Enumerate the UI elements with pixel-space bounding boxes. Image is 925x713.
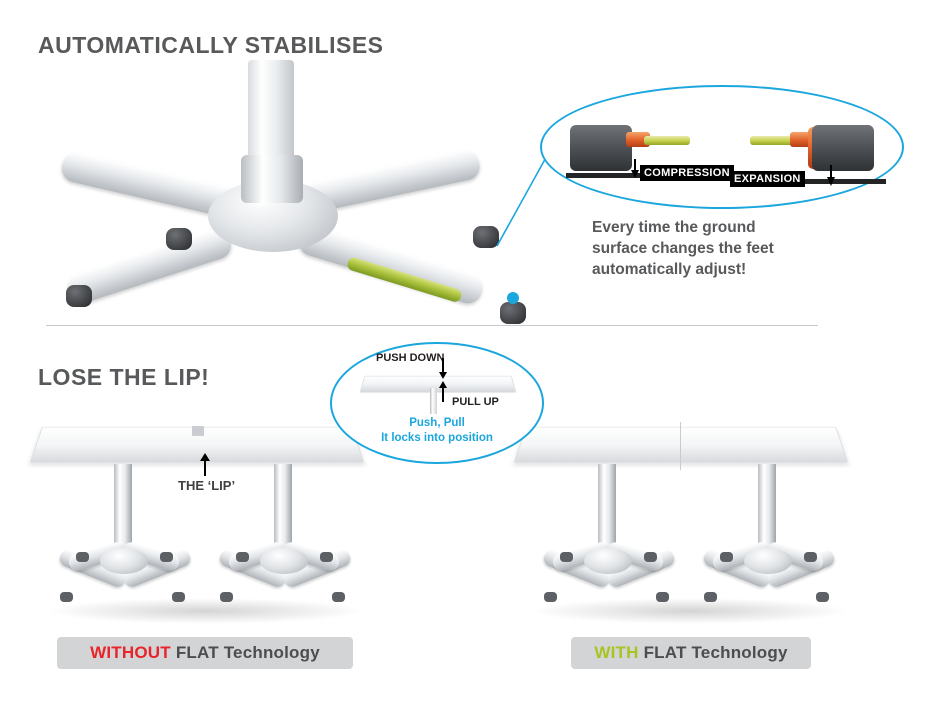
label-the-lip: THE ‘LIP’ xyxy=(178,478,235,493)
pedestal-hub xyxy=(100,548,148,574)
pedestal-glide xyxy=(704,592,717,602)
pedestal-glide xyxy=(76,552,89,562)
pedestal-glide xyxy=(560,552,573,562)
pedestal-glide xyxy=(332,592,345,602)
table-illustration-without xyxy=(36,412,376,612)
page-title-automatically-stabilises: AUTOMATICALLY STABILISES xyxy=(38,32,384,59)
label-pull-up: PULL UP xyxy=(452,396,499,408)
infographic-root: AUTOMATICALLY STABILISES xyxy=(0,0,925,713)
table-top-seam xyxy=(680,422,681,470)
banner-without-flat-technology: WITHOUT FLAT Technology xyxy=(57,637,353,669)
push-pull-callout-ellipse: PUSH DOWN PULL UP Push, Pull It locks in… xyxy=(330,342,544,464)
pedestal-glide xyxy=(236,552,249,562)
label-push-down: PUSH DOWN xyxy=(376,352,444,364)
arrow-down-icon xyxy=(442,358,444,372)
banner-rest-without: FLAT Technology xyxy=(176,643,320,663)
banner-with-flat-technology: WITH FLAT Technology xyxy=(571,637,811,669)
mechanism-expansion xyxy=(750,109,870,179)
base-foot xyxy=(500,302,526,324)
base-foot xyxy=(66,285,92,307)
table-top xyxy=(514,427,849,463)
mechanism-housing xyxy=(812,125,874,171)
mini-table-column xyxy=(430,388,437,414)
table-pedestal xyxy=(708,464,828,614)
banner-rest-with: FLAT Technology xyxy=(644,643,788,663)
pedestal-glide xyxy=(220,592,233,602)
caption-line-1: Every time the ground xyxy=(592,218,892,239)
pedestal-hub xyxy=(744,548,792,574)
pedestal-glide xyxy=(320,552,333,562)
base-foot xyxy=(166,228,192,250)
arrow-down-icon xyxy=(630,159,642,179)
pedestal-hub xyxy=(260,548,308,574)
pedestal-glide xyxy=(60,592,73,602)
caption-line-2: surface changes the feet xyxy=(592,239,892,260)
table-pedestal xyxy=(64,464,184,614)
note-push-pull: Push, Pull xyxy=(332,417,542,429)
mechanism-housing xyxy=(570,125,632,171)
section-divider xyxy=(46,325,818,326)
pedestal-glide xyxy=(720,552,733,562)
caption-feet-adjust: Every time the ground surface changes th… xyxy=(592,218,892,281)
mechanism-rod xyxy=(644,136,690,145)
pedestal-glide xyxy=(816,592,829,602)
pedestal-glide xyxy=(544,592,557,602)
arrow-down-icon xyxy=(826,165,838,187)
banner-emphasis-with: WITH xyxy=(594,643,638,663)
page-title-lose-the-lip: LOSE THE LIP! xyxy=(38,364,209,391)
table-pedestal xyxy=(548,464,668,614)
pedestal-glide xyxy=(644,552,657,562)
pedestal-glide xyxy=(656,592,669,602)
caption-line-3: automatically adjust! xyxy=(592,260,892,281)
pedestal-glide xyxy=(172,592,185,602)
label-compression: COMPRESSION xyxy=(640,165,734,181)
arrow-up-icon xyxy=(204,460,206,476)
pedestal-glide xyxy=(160,552,173,562)
label-expansion: EXPANSION xyxy=(730,171,805,187)
base-column-collar xyxy=(241,155,303,203)
table-lip xyxy=(192,426,204,436)
table-illustration-with xyxy=(520,412,860,612)
table-pedestal xyxy=(224,464,344,614)
note-locks-into-position: It locks into position xyxy=(332,432,542,444)
chair-base-illustration xyxy=(48,60,518,290)
pedestal-glide xyxy=(804,552,817,562)
blue-dot-icon xyxy=(507,292,519,304)
banner-emphasis-without: WITHOUT xyxy=(90,643,171,663)
arrow-up-icon xyxy=(442,388,444,402)
mechanism-callout-ellipse: COMPRESSION EXPANSION xyxy=(540,85,904,209)
pedestal-hub xyxy=(584,548,632,574)
mini-table-top xyxy=(359,376,516,393)
